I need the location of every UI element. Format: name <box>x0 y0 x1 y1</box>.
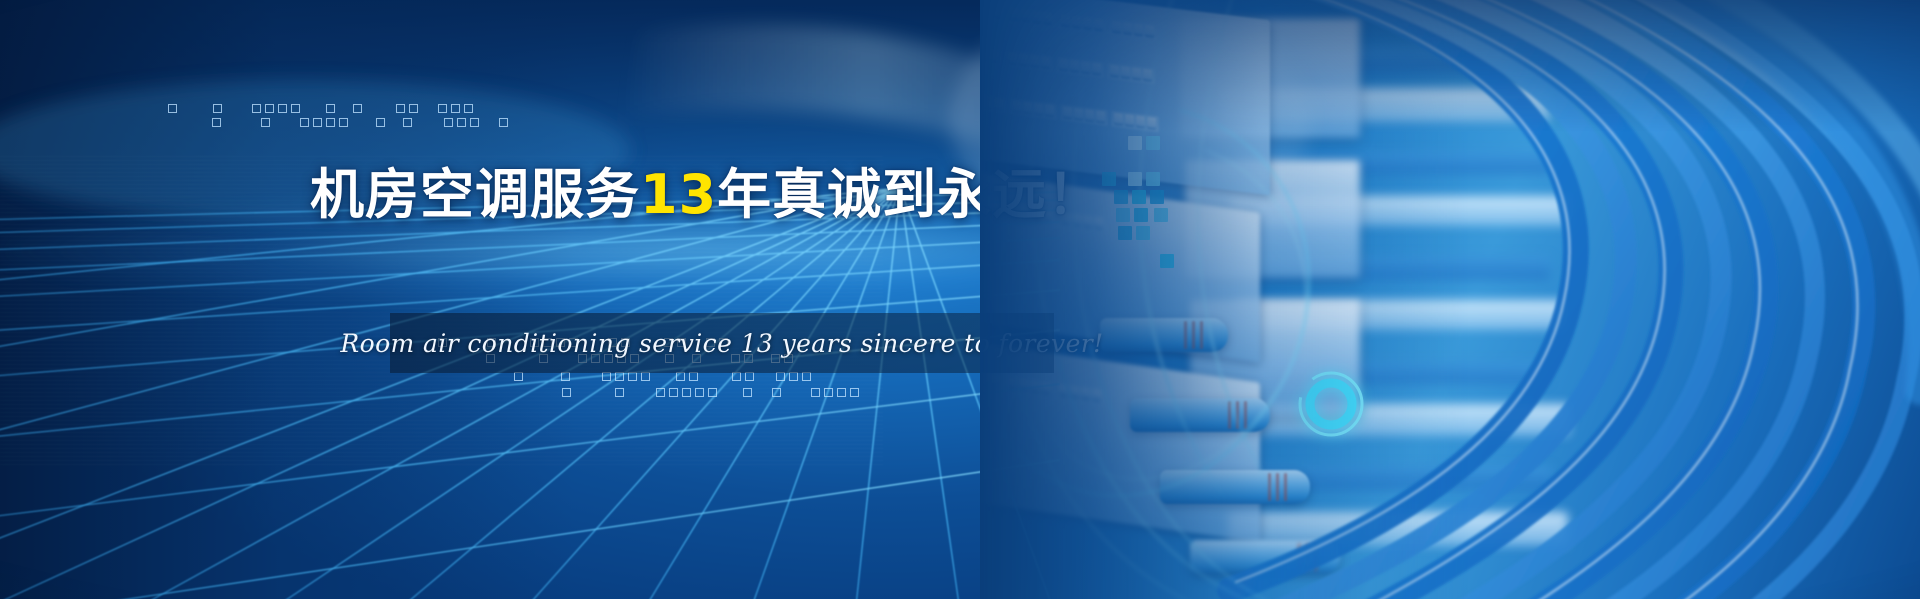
headline-accent-years: 13 <box>640 163 717 226</box>
headline-prefix: 机房空调服务 <box>310 163 640 226</box>
decor-squares-row <box>514 372 811 381</box>
decor-squares-row <box>562 388 859 397</box>
promo-banner: 机房空调服务13年真诚到永远！ Room air conditioning se… <box>0 0 1920 599</box>
server-room-photo <box>980 0 1920 599</box>
decor-squares-row <box>212 118 508 127</box>
photo-left-blend <box>980 0 1920 599</box>
decor-squares-row <box>168 104 473 113</box>
subtitle-bar: Room air conditioning service 13 years s… <box>390 313 1054 373</box>
